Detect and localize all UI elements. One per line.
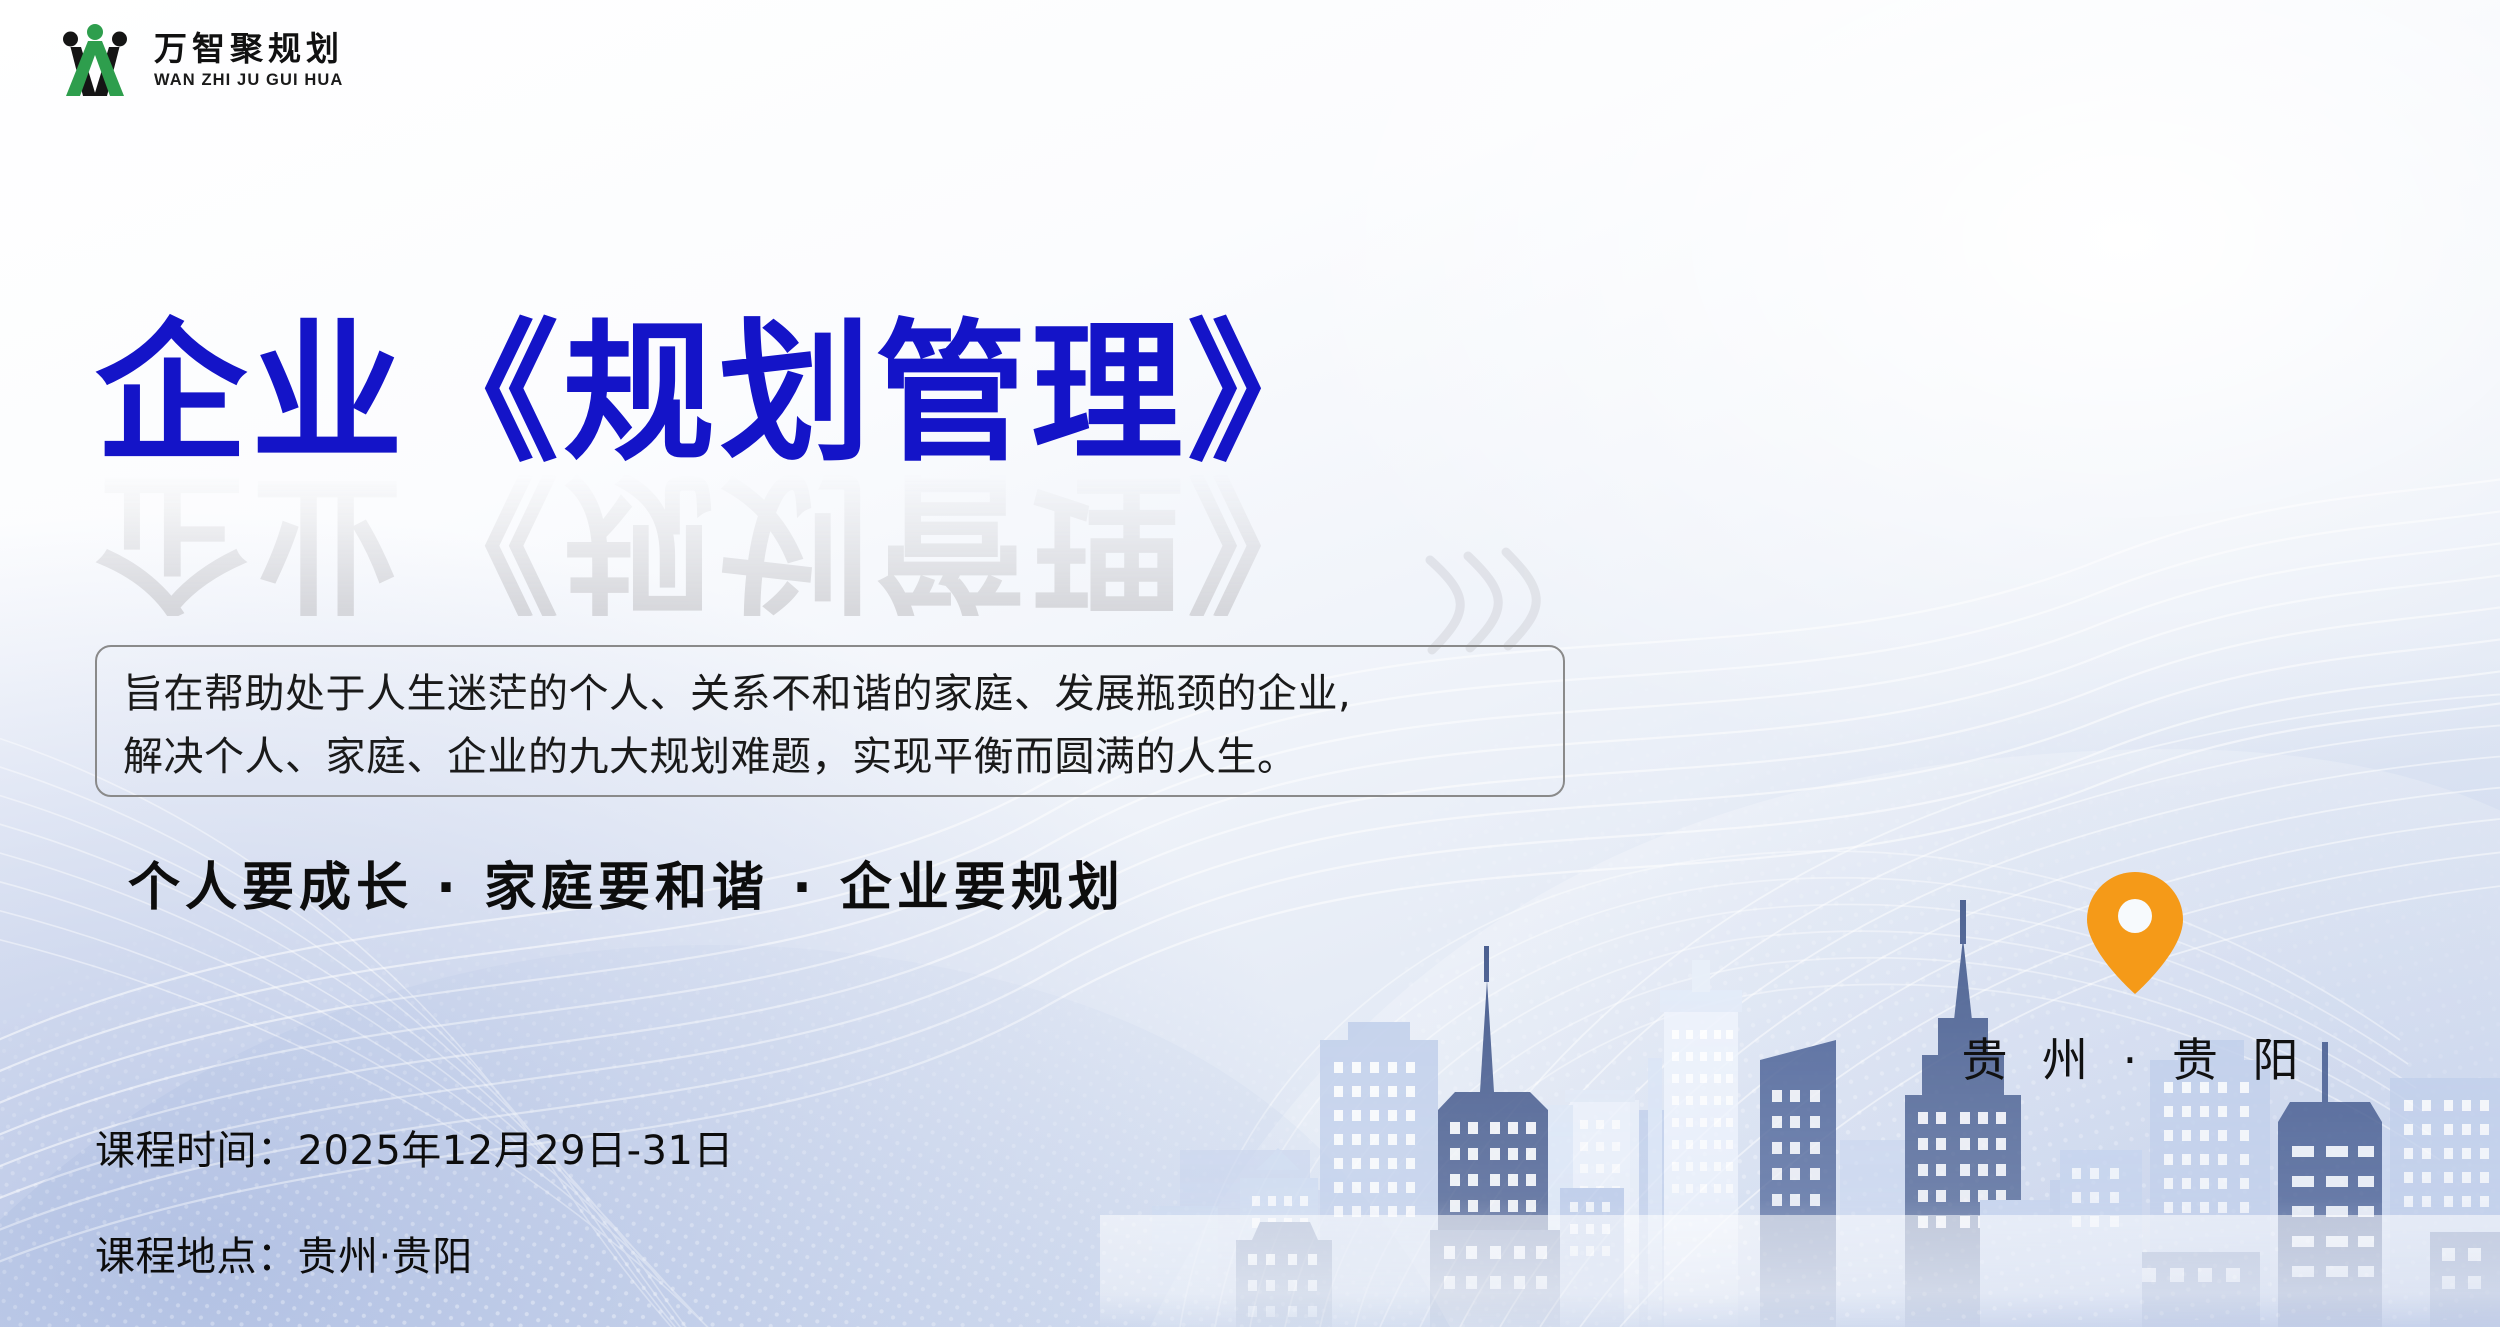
brand-text: 万智聚规划 WAN ZHI JU GUI HUA [154,32,344,89]
course-place: 课程地点：贵州·贵阳 [95,1224,734,1282]
tagline: 个人要成长 · 家庭要和谐 · 企业要规划 [128,845,1125,920]
course-time: 课程时间：2025年12月29日-31日 [95,1118,734,1176]
brand-logo: 万智聚规划 WAN ZHI JU GUI HUA [52,22,344,98]
three-people-logo-icon [52,22,138,98]
description-box: 旨在帮助处于人生迷茫的个人、关系不和谐的家庭、发展瓶颈的企业, 解决个人、家庭、… [95,645,1565,797]
page-title-reflection: 企业《规划管理》 [95,464,1655,616]
location-label: 贵 州 · 贵 阳 [1955,1024,2315,1090]
description-line-1: 旨在帮助处于人生迷茫的个人、关系不和谐的家庭、发展瓶颈的企业, [123,663,1537,726]
map-pin-icon [2083,868,2187,998]
description-line-2: 解决个人、家庭、企业的九大规划难题，实现平衡而圆满的人生。 [123,726,1537,789]
brand-name-cn: 万智聚规划 [154,32,344,65]
location-block: 贵 州 · 贵 阳 [1955,868,2315,1090]
title-block: 企业《规划管理》 企业《规划管理》 [95,318,1655,618]
page-title: 企业《规划管理》 [95,318,1655,470]
brand-name-en: WAN ZHI JU GUI HUA [154,72,344,89]
course-info: 课程时间：2025年12月29日-31日 课程地点：贵州·贵阳 [95,1118,734,1282]
poster-canvas: 万智聚规划 WAN ZHI JU GUI HUA 企业《规划管理》 企业《规划管… [0,0,2500,1327]
